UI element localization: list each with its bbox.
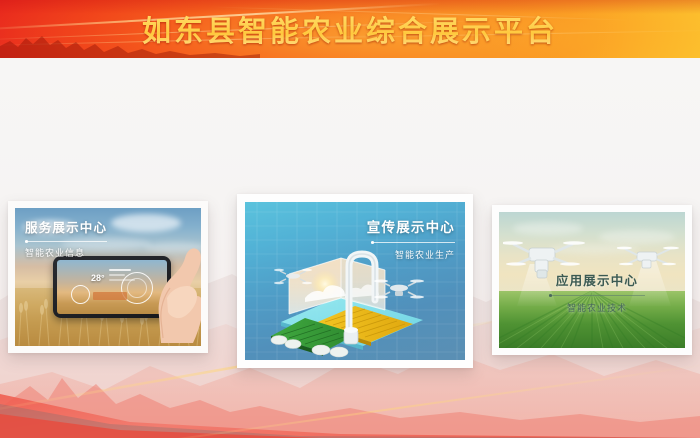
card-text-promotion: 宣传展示中心 智能农业生产 [367, 216, 455, 261]
hand-icon [141, 238, 201, 343]
hud-bar [109, 279, 135, 281]
card-text-application: 应用展示中心 智能农业技术 [549, 270, 645, 314]
card-service-display-center[interactable]: 28° 服务展示中心 [8, 201, 208, 353]
content-stage: 28° 服务展示中心 [0, 58, 700, 438]
card-divider [25, 241, 107, 242]
page-title: 如东县智能农业综合展示平台 [0, 0, 700, 58]
hud-info-chip [93, 292, 127, 300]
card-title: 应用展示中心 [549, 270, 645, 289]
card-subtitle: 智能农业生产 [367, 248, 455, 261]
hud-small-ring-icon [71, 285, 90, 304]
hud-bar [109, 269, 131, 271]
hud-temperature: 28° [91, 273, 105, 283]
card-text-service: 服务展示中心 智能农业信息 [25, 217, 107, 259]
card-promotion-display-center[interactable]: 宣传展示中心 智能农业生产 [237, 194, 473, 368]
card-image-promotion: 宣传展示中心 智能农业生产 [245, 202, 465, 360]
divider-dot-icon [549, 294, 552, 297]
card-subtitle: 智能农业信息 [25, 246, 107, 259]
card-divider [371, 242, 455, 243]
card-divider [549, 295, 645, 296]
card-subtitle: 智能农业技术 [549, 301, 645, 314]
card-title: 宣传展示中心 [367, 216, 455, 236]
card-title: 服务展示中心 [25, 217, 107, 236]
card-image-service: 28° 服务展示中心 [15, 208, 201, 346]
divider-dot-icon [371, 241, 374, 244]
app-root: 如东县智能农业综合展示平台 [0, 0, 700, 438]
header-banner: 如东县智能农业综合展示平台 [0, 0, 700, 58]
hud-bar [109, 274, 125, 276]
card-image-application: 应用展示中心 智能农业技术 [499, 212, 685, 348]
cloud-shape [111, 214, 181, 232]
card-application-display-center[interactable]: 应用展示中心 智能农业技术 [492, 205, 692, 355]
divider-dot-icon [25, 240, 28, 243]
